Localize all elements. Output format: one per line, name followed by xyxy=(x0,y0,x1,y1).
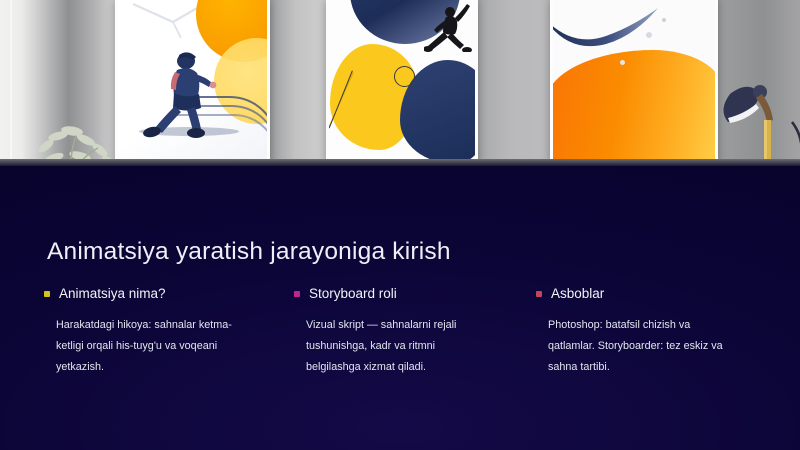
column-body-text: Vizual skript — sahnalarni rejali tushun… xyxy=(306,315,492,378)
column-header: Asboblar xyxy=(536,286,772,301)
column-body-text: Harakatdagi hikoya: sahnalar ketma-ketli… xyxy=(56,315,250,378)
wall-gap-2 xyxy=(478,0,550,166)
column-heading: Storyboard roli xyxy=(309,286,397,301)
column-storyboard-roli: Storyboard roli Vizual skript — sahnalar… xyxy=(292,286,534,378)
column-animatsiya-nima: Animatsiya nima? Harakatdagi hikoya: sah… xyxy=(42,286,292,378)
bullet-square-icon xyxy=(294,291,300,297)
bullet-square-icon xyxy=(536,291,542,297)
column-body-text: Photoshop: batafsil chizish va qatlamlar… xyxy=(548,315,734,378)
page-title: Animatsiya yaratish jarayoniga kirish xyxy=(47,238,451,266)
column-header: Storyboard roli xyxy=(294,286,534,301)
column-asboblar: Asboblar Photoshop: batafsil chizish va … xyxy=(534,286,772,378)
column-header: Animatsiya nima? xyxy=(44,286,292,301)
bullet-square-icon xyxy=(44,291,50,297)
floor-line xyxy=(0,159,800,166)
tennis-player-poster xyxy=(326,0,478,162)
slide: Animatsiya yaratish jarayoniga kirish An… xyxy=(0,0,800,450)
desk-lamp xyxy=(682,58,800,166)
column-heading: Animatsiya nima? xyxy=(59,286,166,301)
columns-container: Animatsiya nima? Harakatdagi hikoya: sah… xyxy=(42,286,772,378)
hero-image xyxy=(0,0,800,166)
poster-frame xyxy=(326,0,478,162)
wall-gap-1 xyxy=(270,0,326,166)
running-figure-poster xyxy=(115,0,270,162)
poster-frame xyxy=(115,0,270,162)
column-heading: Asboblar xyxy=(551,286,604,301)
